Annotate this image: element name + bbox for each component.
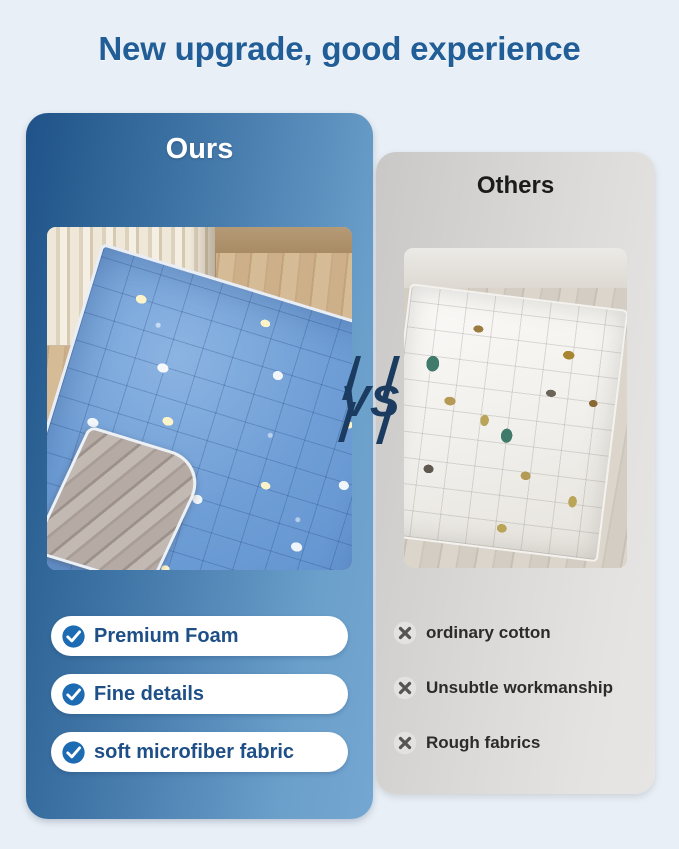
check-circle-icon — [60, 681, 87, 708]
list-item-label: ordinary cotton — [426, 623, 551, 643]
ours-feature-list: Premium Foam Fine details soft microfibe… — [51, 616, 348, 790]
others-heading: Others — [376, 172, 655, 200]
x-circle-icon — [393, 676, 417, 700]
list-item[interactable]: Fine details — [51, 674, 348, 714]
list-item-label: Premium Foam — [94, 625, 238, 648]
check-circle-icon — [60, 623, 87, 650]
white-quilted-mattress-pad — [404, 283, 627, 562]
list-item[interactable]: ordinary cotton — [393, 619, 643, 646]
check-circle-icon — [60, 739, 87, 766]
list-item[interactable]: Rough fabrics — [393, 729, 643, 756]
wall-strip-decoration — [215, 227, 352, 253]
list-item-label: Rough fabrics — [426, 733, 540, 753]
others-product-photo — [404, 248, 627, 568]
list-item-label: soft microfiber fabric — [94, 741, 294, 764]
ours-heading: Ours — [26, 133, 373, 166]
page-title: New upgrade, good experience — [0, 30, 679, 68]
list-item[interactable]: soft microfiber fabric — [51, 732, 348, 772]
wall-strip-decoration — [404, 248, 627, 288]
list-item[interactable]: Premium Foam — [51, 616, 348, 656]
list-item-label: Unsubtle workmanship — [426, 678, 613, 698]
others-feature-list: ordinary cotton Unsubtle workmanship Rou… — [393, 619, 643, 784]
x-circle-icon — [393, 621, 417, 645]
x-circle-icon — [393, 731, 417, 755]
ours-product-photo — [47, 227, 352, 570]
list-item[interactable]: Unsubtle workmanship — [393, 674, 643, 701]
list-item-label: Fine details — [94, 683, 204, 706]
